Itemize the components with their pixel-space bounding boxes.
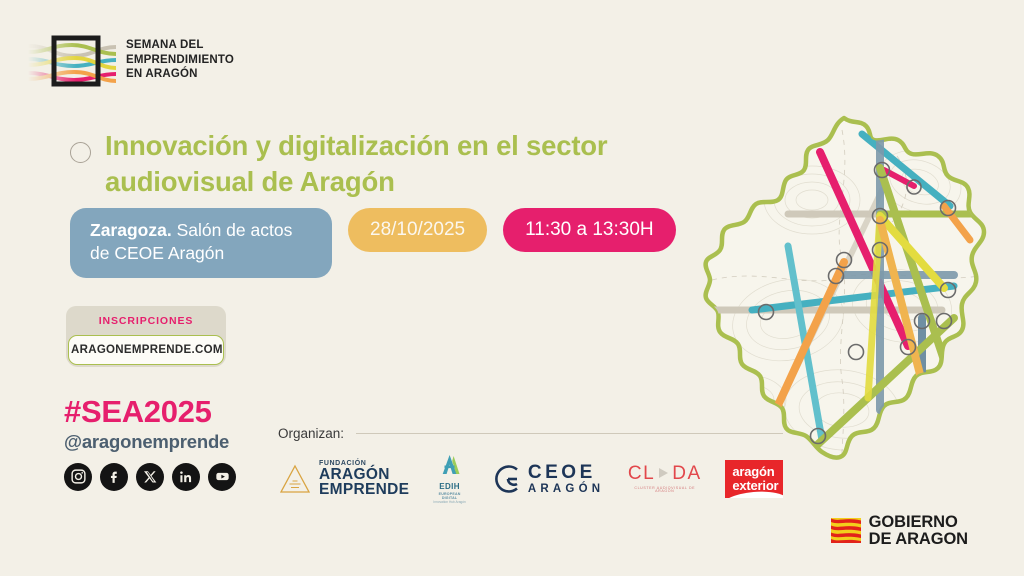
aragon-flag-icon	[831, 518, 861, 543]
registration-url-button[interactable]: ARAGONEMPRENDE.COM	[68, 335, 224, 365]
registration-label: INSCRIPCIONES	[72, 315, 220, 327]
social-icon-row	[64, 463, 236, 491]
organizers-label: Organizan:	[278, 426, 344, 441]
circle-outline-icon	[70, 142, 91, 163]
gob-line1: GOBIERNO	[869, 514, 968, 531]
ceoe-line1: CEOE	[528, 463, 604, 483]
edih-line3: Innovation Hub Aragón	[431, 501, 468, 504]
ceoe-aragon-logo[interactable]: CEOE ARAGÓN	[490, 463, 604, 495]
event-title-row: Innovación y digitalización en el sector…	[70, 128, 710, 200]
brand-title: SEMANA DEL EMPRENDIMIENTO EN ARAGÓN	[126, 38, 234, 82]
semana-del-emprendimiento-ribbon-mark	[28, 30, 116, 90]
x-twitter-icon[interactable]	[136, 463, 164, 491]
time-pill: 11:30 a 13:30H	[503, 208, 676, 252]
registration-box: INSCRIPCIONES ARAGONEMPRENDE.COM	[66, 306, 226, 367]
gob-line2: DE ARAGON	[869, 531, 968, 548]
linkedin-icon[interactable]	[172, 463, 200, 491]
play-arrow-icon	[659, 468, 668, 478]
date-pill: 28/10/2025	[348, 208, 487, 252]
social-handle: @aragonemprende	[64, 433, 236, 452]
venue-city: Zaragoza.	[90, 220, 172, 240]
ceoe-line2: ARAGÓN	[528, 483, 604, 495]
edih-logo[interactable]: EDIH EUROPEAN DIGITAL Innovation Hub Ara…	[431, 453, 468, 504]
facebook-icon[interactable]	[100, 463, 128, 491]
edih-line2: EUROPEAN DIGITAL	[431, 493, 468, 500]
poster-canvas: SEMANA DEL EMPRENDIMIENTO EN ARAGÓN Inno…	[0, 0, 1024, 576]
social-block: #SEA2025 @aragonemprende	[64, 396, 236, 491]
aragon-region-network-map	[692, 110, 1016, 490]
fae-line3: EMPRENDE	[319, 482, 409, 498]
event-hashtag: #SEA2025	[64, 396, 236, 427]
event-meta-pills: Zaragoza. Salón de actos de CEOE Aragón …	[70, 208, 676, 278]
triangle-pyramid-icon	[278, 462, 312, 496]
brand-lockup: SEMANA DEL EMPRENDIMIENTO EN ARAGÓN	[28, 30, 234, 90]
cluda-line1: CL	[628, 464, 655, 483]
edih-a-mark-icon	[435, 453, 465, 477]
gobierno-de-aragon-logo: GOBIERNO DE ARAGON	[831, 514, 968, 548]
fundacion-aragon-emprende-logo[interactable]: FUNDACIÓN ARAGÓN EMPRENDE	[278, 460, 409, 498]
fae-line2: ARAGÓN	[319, 467, 409, 483]
ceoe-c-mark-icon	[490, 463, 520, 495]
instagram-icon[interactable]	[64, 463, 92, 491]
venue-pill: Zaragoza. Salón de actos de CEOE Aragón	[70, 208, 332, 278]
page-title: Innovación y digitalización en el sector…	[105, 128, 665, 200]
youtube-icon[interactable]	[208, 463, 236, 491]
edih-line1: EDIH	[431, 483, 468, 491]
